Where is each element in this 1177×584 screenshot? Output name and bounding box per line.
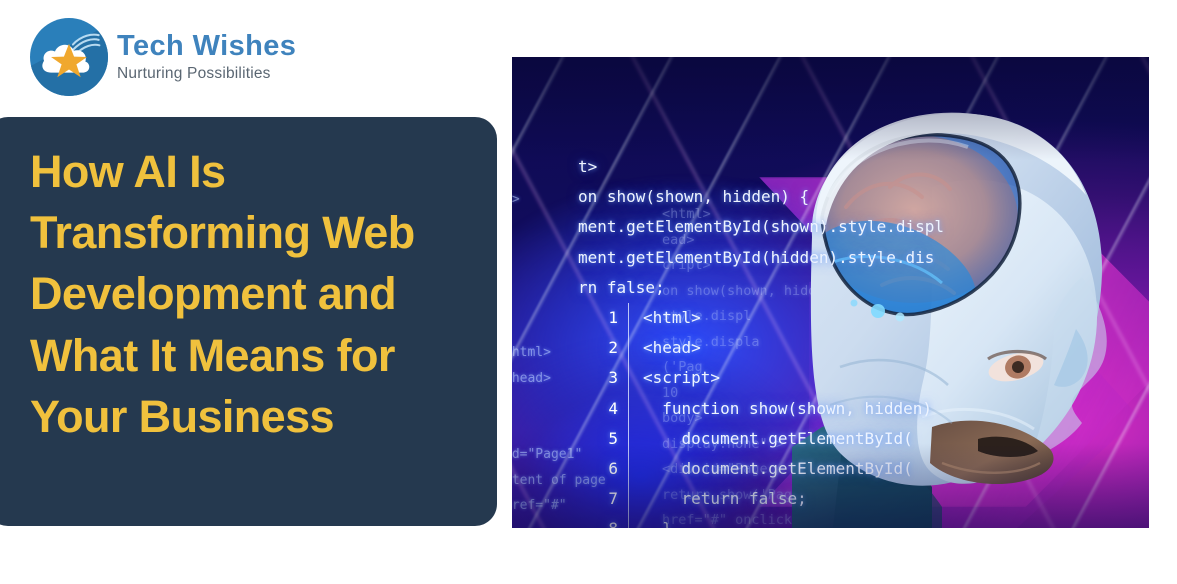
code-gutter-rule bbox=[628, 394, 629, 424]
code-line-number: 5 bbox=[578, 424, 628, 454]
brand-logo: Tech Wishes Nurturing Possibilities bbox=[30, 18, 300, 96]
code-line: 8 } bbox=[578, 514, 1149, 528]
logo-text-block: Tech Wishes Nurturing Possibilities bbox=[117, 32, 296, 82]
code-line-number: 2 bbox=[578, 333, 628, 363]
code-line: 4 function show(shown, hidden) bbox=[578, 394, 1149, 424]
code-header-line: on show(shown, hidden) { bbox=[578, 182, 1149, 212]
hero-image: t> <html><head> id="Page1"ntent of pageh… bbox=[512, 57, 1149, 528]
code-header-line: ment.getElementById(hidden).style.dis bbox=[578, 243, 1149, 273]
brand-tagline: Nurturing Possibilities bbox=[117, 66, 296, 82]
code-line-source: <head> bbox=[643, 333, 701, 363]
brand-name: Tech Wishes bbox=[117, 32, 296, 61]
page-title: How AI Is Transforming Web Development a… bbox=[30, 135, 473, 447]
code-line: 6 document.getElementById( bbox=[578, 454, 1149, 484]
code-gutter-rule bbox=[628, 333, 629, 363]
code-gutter-rule bbox=[628, 303, 629, 333]
code-line: 2<head> bbox=[578, 333, 1149, 363]
code-line-source: <html> bbox=[643, 303, 701, 333]
headline-panel: How AI Is Transforming Web Development a… bbox=[0, 117, 497, 526]
code-gutter-rule bbox=[628, 514, 629, 528]
code-line: 3<script> bbox=[578, 363, 1149, 393]
code-line-source: function show(shown, hidden) bbox=[643, 394, 932, 424]
code-block-main: t>on show(shown, hidden) {ment.getElemen… bbox=[578, 152, 1149, 528]
code-line-source: document.getElementById( bbox=[643, 424, 913, 454]
code-line-number: 1 bbox=[578, 303, 628, 333]
code-line-number: 7 bbox=[578, 484, 628, 514]
code-line-number: 4 bbox=[578, 394, 628, 424]
code-line: 1<html> bbox=[578, 303, 1149, 333]
code-gutter-rule bbox=[628, 454, 629, 484]
code-line-number: 3 bbox=[578, 363, 628, 393]
code-line-number: 8 bbox=[578, 514, 628, 528]
code-header-line: ment.getElementById(shown).style.displ bbox=[578, 212, 1149, 242]
code-line-source: <script> bbox=[643, 363, 720, 393]
code-header-line: rn false; bbox=[578, 273, 1149, 303]
code-line-source: return false; bbox=[643, 484, 807, 514]
code-line-source: document.getElementById( bbox=[643, 454, 913, 484]
code-header-line: t> bbox=[578, 152, 1149, 182]
code-gutter-rule bbox=[628, 363, 629, 393]
code-line-number: 6 bbox=[578, 454, 628, 484]
code-gutter-rule bbox=[628, 424, 629, 454]
code-line: 5 document.getElementById( bbox=[578, 424, 1149, 454]
code-line-source: } bbox=[643, 514, 672, 528]
cloud-star-logo-icon bbox=[30, 18, 108, 96]
code-gutter-rule bbox=[628, 484, 629, 514]
code-line: 7 return false; bbox=[578, 484, 1149, 514]
